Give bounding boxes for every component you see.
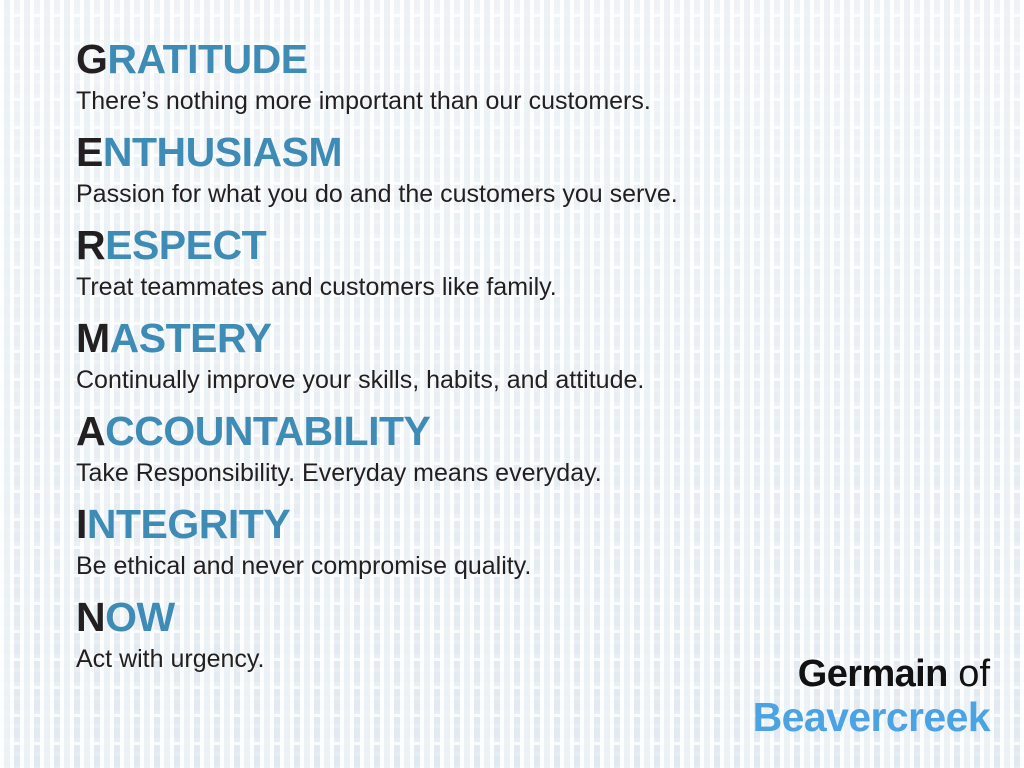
value-remainder-text: RATITUDE: [107, 36, 307, 82]
slide-canvas: GRATITUDE There’s nothing more important…: [0, 0, 1024, 768]
value-initial-letter: I: [76, 501, 87, 547]
value-heading-mastery: MASTERY: [76, 315, 976, 361]
value-remainder-text: ASTERY: [110, 315, 272, 361]
value-initial-letter: A: [76, 408, 105, 454]
value-remainder-text: NTEGRITY: [87, 501, 290, 547]
value-initial-letter: M: [76, 315, 110, 361]
value-remainder-text: CCOUNTABILITY: [105, 408, 430, 454]
value-description-gratitude: There’s nothing more important than our …: [76, 84, 976, 118]
value-item-gratitude: GRATITUDE There’s nothing more important…: [76, 36, 976, 118]
value-heading-respect: RESPECT: [76, 222, 976, 268]
value-description-enthusiasm: Passion for what you do and the customer…: [76, 177, 976, 211]
value-description-mastery: Continually improve your skills, habits,…: [76, 363, 976, 397]
value-heading-integrity: INTEGRITY: [76, 501, 976, 547]
value-item-enthusiasm: ENTHUSIASM Passion for what you do and t…: [76, 129, 976, 211]
logo-location-name: Beavercreek: [753, 695, 990, 740]
value-initial-letter: E: [76, 129, 103, 175]
value-item-respect: RESPECT Treat teammates and customers li…: [76, 222, 976, 304]
value-description-integrity: Be ethical and never compromise quality.: [76, 549, 976, 583]
dealership-logo: Germain of Beavercreek: [753, 653, 990, 740]
value-remainder-text: NTHUSIASM: [103, 129, 342, 175]
value-description-accountability: Take Responsibility. Everyday means ever…: [76, 456, 976, 490]
value-initial-letter: R: [76, 222, 105, 268]
value-initial-letter: G: [76, 36, 107, 82]
value-heading-now: NOW: [76, 594, 976, 640]
value-remainder-text: ESPECT: [105, 222, 266, 268]
core-values-list: GRATITUDE There’s nothing more important…: [76, 36, 976, 687]
logo-brand-name: Germain: [798, 653, 948, 695]
logo-primary-line: Germain of: [753, 653, 990, 695]
value-remainder-text: OW: [105, 594, 175, 640]
value-heading-enthusiasm: ENTHUSIASM: [76, 129, 976, 175]
value-heading-gratitude: GRATITUDE: [76, 36, 976, 82]
logo-connector-word: of: [948, 653, 990, 695]
value-heading-accountability: ACCOUNTABILITY: [76, 408, 976, 454]
value-item-mastery: MASTERY Continually improve your skills,…: [76, 315, 976, 397]
value-description-respect: Treat teammates and customers like famil…: [76, 270, 976, 304]
value-initial-letter: N: [76, 594, 105, 640]
value-item-accountability: ACCOUNTABILITY Take Responsibility. Ever…: [76, 408, 976, 490]
value-item-integrity: INTEGRITY Be ethical and never compromis…: [76, 501, 976, 583]
